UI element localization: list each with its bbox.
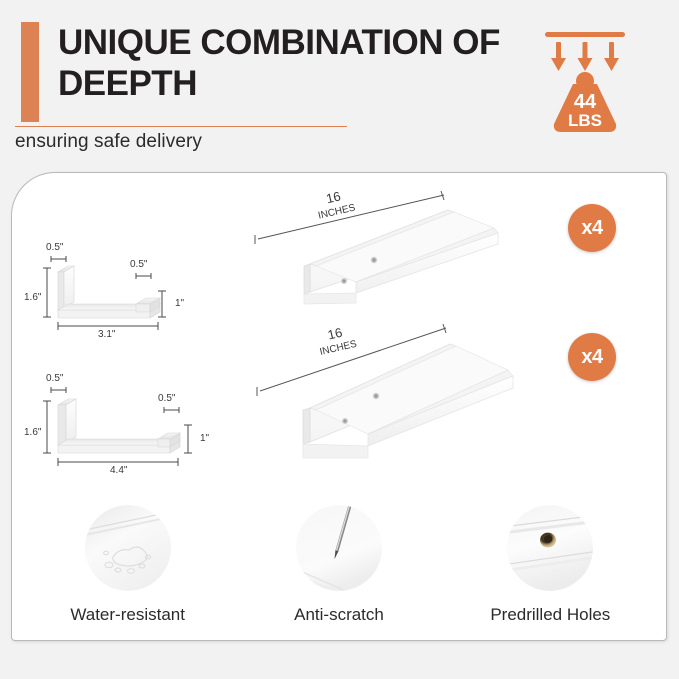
accent-bar [21,22,39,122]
page-title: UNIQUE COMBINATION OF DEEPTH [58,22,528,104]
shelf-render-shallow: 16 INCHES [248,186,548,306]
dim-depth-label: 3.1" [98,329,116,337]
needle-pin-icon [296,505,382,591]
quantity-badge-shallow: x4 [568,204,616,252]
cross-section-diagram-shallow: 0.5" 0.5" 1.6" 1" 3.1" [18,232,228,337]
weight-unit: LBS [568,111,602,130]
cross-section-diagram-deep: 0.5" 0.5" 1.6" 1" 4.4" [18,363,233,473]
feature-water-resistant: Water-resistant [28,505,228,625]
feature-predrilled-holes: Predrilled Holes [450,505,650,625]
header-section: UNIQUE COMBINATION OF DEEPTH ensuring sa… [0,0,679,165]
length-value: 16 [326,325,343,343]
dim-lip-left-label: 0.5" [46,373,64,384]
dim-lip-right-label: 0.5" [130,259,148,270]
subtitle: ensuring safe delivery [15,131,202,153]
dim-height-right-label: 1" [200,433,210,444]
dim-height-right-label: 1" [175,298,185,309]
feature-label: Water-resistant [70,605,185,625]
water-droplets-icon [85,505,171,591]
weight-value: 44 [574,91,597,113]
length-unit: INCHES [317,202,357,221]
feature-label: Anti-scratch [294,605,384,625]
dim-depth-label: 4.4" [110,465,128,473]
feature-anti-scratch: Anti-scratch [239,505,439,625]
dim-height-left-label: 1.6" [24,427,42,438]
feature-label: Predrilled Holes [490,605,610,625]
divider [15,126,347,127]
length-unit: INCHES [319,339,359,358]
weight-capacity-badge: 44 LBS [537,28,633,133]
dim-lip-right-label: 0.5" [158,393,176,404]
shelf-render-deep: 16 INCHES [248,318,558,468]
feature-list: Water-resistant [22,505,656,635]
dim-height-left-label: 1.6" [24,292,42,303]
dim-lip-left-label: 0.5" [46,242,64,253]
quantity-badge-deep: x4 [568,333,616,381]
length-value: 16 [325,188,342,206]
drilled-hole-icon [507,505,593,591]
